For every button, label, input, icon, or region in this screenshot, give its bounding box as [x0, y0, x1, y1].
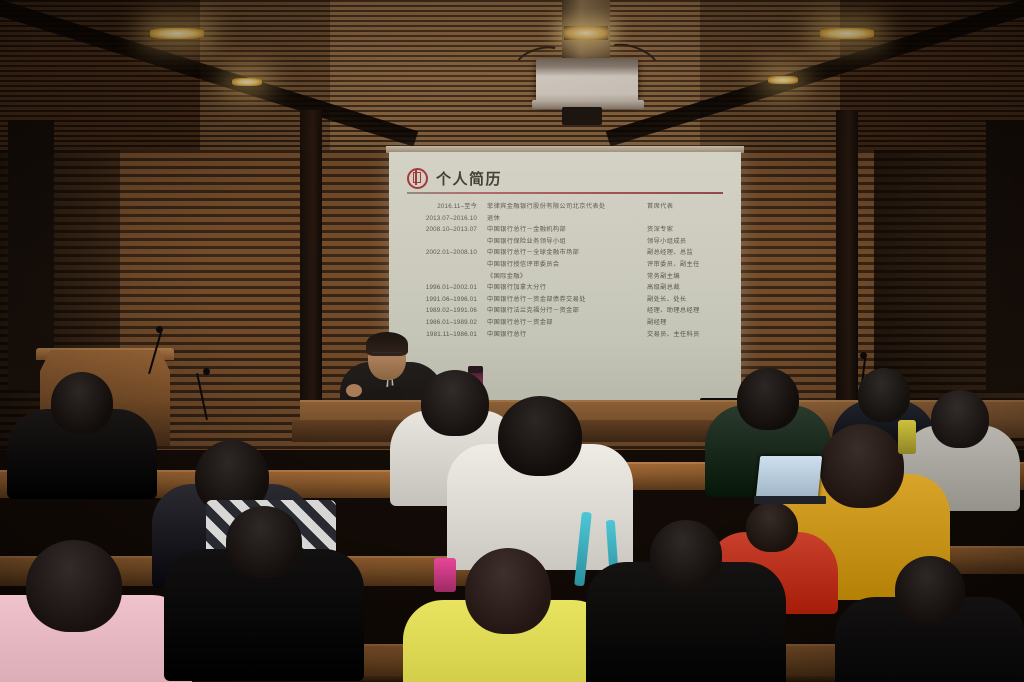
person-head — [895, 556, 965, 624]
resume-row: —《国际金融》常务副主编 — [399, 274, 733, 280]
resume-position: 常务副主编 — [647, 274, 733, 280]
microphone-icon — [203, 368, 210, 375]
resume-position: 副经理 — [647, 320, 733, 326]
resume-date: 1989.02–1991.06 — [399, 308, 487, 314]
resume-date: 1991.06–1996.01 — [399, 297, 487, 303]
resume-position: 交易员、主任科员 — [647, 332, 733, 338]
resume-organization: 中国银行授信评审委员会 — [487, 262, 647, 268]
resume-row: 1981.11–1986.01中国银行总行交易员、主任科员 — [399, 332, 733, 338]
projector-lamp-glow — [564, 26, 608, 40]
person-head — [498, 396, 582, 476]
resume-organization: 中国银行总行－全球金融市场部 — [487, 250, 647, 256]
resume-organization: 《国际金融》 — [487, 274, 647, 280]
resume-position: 高级副总裁 — [647, 285, 733, 291]
resume-organization: 中国银行总行－金融机构部 — [487, 227, 647, 233]
resume-date: 2008.10–2013.07 — [399, 227, 487, 233]
resume-row: 1989.02–1991.06中国银行法兰克福分行－资金部经理、助理总经理 — [399, 308, 733, 314]
microphone-icon — [156, 326, 163, 333]
resume-position: 资深专家 — [647, 227, 733, 233]
bank-of-china-logo — [407, 168, 428, 189]
resume-organization: 中国银行总行 — [487, 332, 647, 338]
slide-header: 个人简历 — [407, 168, 502, 189]
resume-organization: 中国银行加拿大分行 — [487, 285, 647, 291]
projector-mount — [562, 0, 610, 62]
resume-row: —中国银行授信评审委员会评审委员、副主任 — [399, 262, 733, 268]
resume-date: 1981.11–1986.01 — [399, 332, 487, 338]
resume-organization: 中国银行总行－资金部 — [487, 320, 647, 326]
slide-divider — [407, 192, 723, 194]
resume-position: 首席代表 — [647, 204, 733, 210]
microphone-icon — [860, 352, 867, 359]
resume-date: 2016.11–至今 — [399, 204, 487, 210]
projection-screen: 个人简历 2016.11–至今菲律宾金融银行股份有限公司北京代表处首席代表201… — [389, 152, 741, 400]
ceiling-light-icon — [768, 76, 798, 84]
resume-position: 副总经理、总监 — [647, 250, 733, 256]
resume-organization: 菲律宾金融银行股份有限公司北京代表处 — [487, 204, 647, 210]
speaker-hand — [346, 384, 362, 397]
person-head — [226, 506, 302, 578]
ceiling-light-icon — [150, 28, 204, 39]
wall-pillar — [300, 110, 322, 440]
ceiling-light-icon — [232, 78, 262, 86]
person-head — [820, 424, 904, 508]
person-head — [737, 368, 799, 430]
resume-organization: 中国银行保险业务领导小组 — [487, 239, 647, 245]
resume-date: 1996.01–2002.01 — [399, 285, 487, 291]
laptop-screen — [756, 456, 822, 498]
door-right — [986, 120, 1024, 390]
person-head — [465, 548, 551, 634]
resume-row: 2002.01–2008.10中国银行总行－全球金融市场部副总经理、总监 — [399, 250, 733, 256]
projector-icon — [536, 58, 638, 104]
person-black-coat-right — [835, 556, 1024, 682]
resume-row: 1991.06–1996.01中国银行总行－资金部债券交易处副处长、处长 — [399, 297, 733, 303]
resume-position: 领导小组成员 — [647, 239, 733, 245]
resume-row: 1996.01–2002.01中国银行加拿大分行高级副总裁 — [399, 285, 733, 291]
projector-lens — [562, 107, 602, 125]
resume-position: 经理、助理总经理 — [647, 308, 733, 314]
resume-position: 评审委员、副主任 — [647, 262, 733, 268]
slide-title: 个人简历 — [436, 168, 502, 189]
resume-organization: 退休 — [487, 216, 647, 222]
person-dark-hair-left — [7, 372, 157, 524]
person-black-coat-mid — [586, 520, 786, 682]
resume-organization: 中国银行总行－资金部债券交易处 — [487, 297, 647, 303]
resume-organization: 中国银行法兰克福分行－资金部 — [487, 308, 647, 314]
resume-date: 2002.01–2008.10 — [399, 250, 487, 256]
person-head — [650, 520, 722, 590]
resume-row: 1986.01–1989.02中国银行总行－资金部副经理 — [399, 320, 733, 326]
resume-row-list: 2016.11–至今菲律宾金融银行股份有限公司北京代表处首席代表2013.07–… — [399, 204, 733, 343]
person-head — [51, 372, 113, 434]
resume-row: —中国银行保险业务领导小组领导小组成员 — [399, 239, 733, 245]
resume-row: 2016.11–至今菲律宾金融银行股份有限公司北京代表处首席代表 — [399, 204, 733, 210]
person-yellow-jacket — [403, 548, 613, 682]
laptop-base — [754, 496, 826, 504]
person-head — [26, 540, 122, 632]
gold-thermos — [898, 420, 916, 454]
resume-row: 2013.07–2016.10退休 — [399, 216, 733, 222]
ceiling-light-icon — [820, 28, 874, 39]
resume-date: 2013.07–2016.10 — [399, 216, 487, 222]
glasses-icon — [372, 352, 402, 360]
lecture-hall-photo: 个人简历 2016.11–至今菲律宾金融银行股份有限公司北京代表处首席代表201… — [0, 0, 1024, 682]
person-black-coat-left — [164, 506, 364, 682]
resume-row: 2008.10–2013.07中国银行总行－金融机构部资深专家 — [399, 227, 733, 233]
resume-position: 副处长、处长 — [647, 297, 733, 303]
resume-date: 1986.01–1989.02 — [399, 320, 487, 326]
